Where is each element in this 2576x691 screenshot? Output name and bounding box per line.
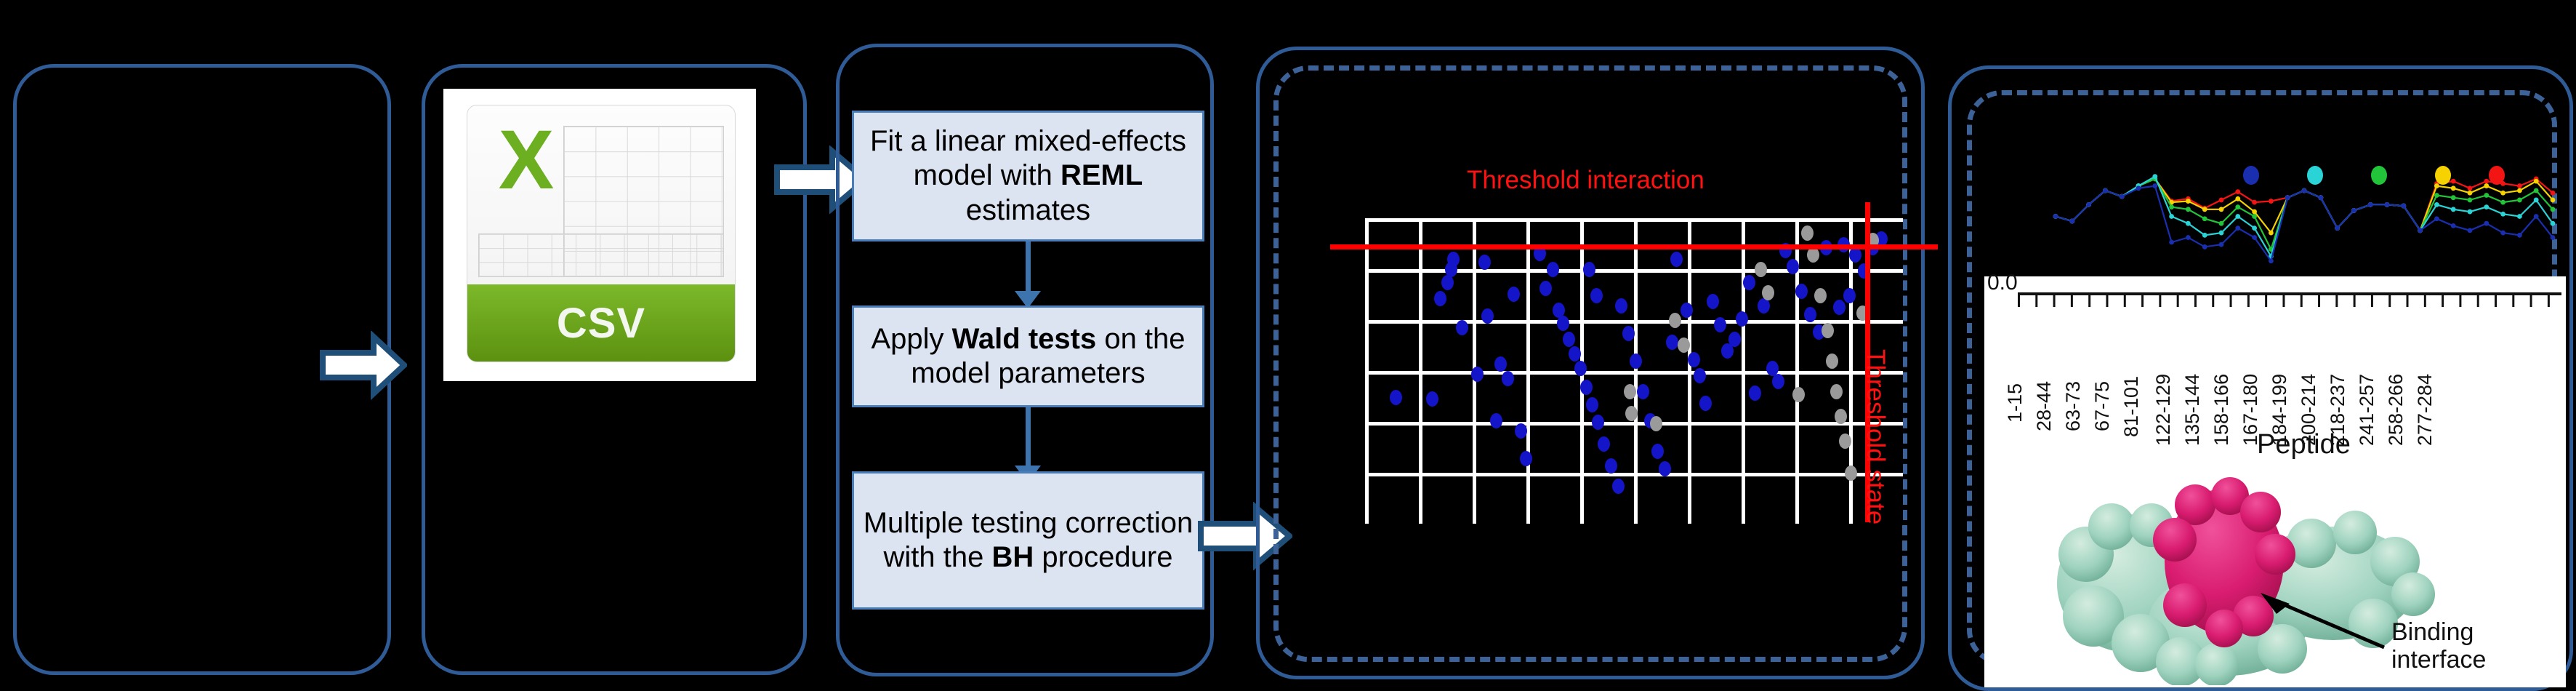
legend-dot-1 bbox=[2243, 166, 2259, 185]
threshold-interaction-line bbox=[1330, 244, 1938, 249]
csv-file-icon: X CSV bbox=[467, 105, 736, 362]
protein-structure-image bbox=[2042, 474, 2450, 685]
scatter-point bbox=[1502, 371, 1514, 386]
excel-x-letter: X bbox=[483, 119, 569, 231]
scatter-point bbox=[1728, 332, 1741, 347]
scatter-point bbox=[1833, 300, 1846, 315]
scatter-point bbox=[1478, 255, 1491, 270]
scatter-point bbox=[1547, 262, 1559, 277]
scatter-point bbox=[1592, 415, 1604, 430]
scatter-point bbox=[1563, 332, 1575, 347]
peptide-label: 158-166 bbox=[2210, 374, 2233, 446]
scatter-point-ns bbox=[1807, 247, 1819, 263]
peptide-label: 258-266 bbox=[2385, 374, 2407, 446]
legend-dot-4 bbox=[2435, 166, 2451, 185]
scatter-point bbox=[1490, 413, 1502, 428]
scatter-point bbox=[1390, 390, 1402, 405]
scatter-point bbox=[1426, 391, 1438, 407]
scatter-point bbox=[1699, 396, 1712, 411]
spreadsheet-grid-lower bbox=[478, 233, 725, 277]
scatter-point bbox=[1481, 308, 1494, 324]
csv-icon-background: X CSV bbox=[443, 89, 756, 381]
step-wald-text: Apply Wald tests on the model parameters bbox=[861, 322, 1195, 391]
scatter-point bbox=[1688, 352, 1700, 367]
binding-interface-line2: interface bbox=[2391, 646, 2486, 674]
scatter-point bbox=[1843, 288, 1856, 303]
y-tick-label: 0.0 bbox=[1987, 271, 2018, 295]
scatter-point-ns bbox=[1625, 406, 1638, 421]
threshold-state-label: Threshold state bbox=[1861, 349, 1890, 524]
scatter-point-ns bbox=[1830, 384, 1843, 399]
x-axis-title: Peptide bbox=[2257, 429, 2351, 460]
scatter-point bbox=[1651, 444, 1664, 459]
scatter-point bbox=[1743, 275, 1755, 290]
scatter-point bbox=[1590, 288, 1603, 303]
scatter-point bbox=[1456, 320, 1468, 335]
threshold-scatter-plot bbox=[1365, 218, 1903, 524]
peptide-label: 277-284 bbox=[2414, 374, 2436, 446]
peptide-label: 135-144 bbox=[2181, 374, 2204, 446]
peptide-line-chart bbox=[2050, 167, 2559, 265]
structure-figure-card: 0.0 1-15 28-44 63-73 67-75 81-101 122-12… bbox=[1984, 276, 2566, 687]
csv-format-label: CSV bbox=[557, 299, 645, 348]
scatter-point bbox=[1494, 356, 1507, 372]
scatter-point bbox=[1694, 368, 1706, 383]
scatter-point-ns bbox=[1814, 288, 1827, 303]
peptide-label: 241-257 bbox=[2356, 374, 2378, 446]
scatter-point bbox=[1539, 281, 1552, 296]
scatter-point-ns bbox=[1822, 323, 1834, 338]
scatter-point bbox=[1615, 298, 1627, 313]
scatter-point bbox=[1749, 386, 1761, 401]
scatter-point bbox=[1569, 346, 1581, 362]
step-wald-box: Apply Wald tests on the model parameters bbox=[852, 305, 1204, 407]
scatter-point bbox=[1787, 259, 1799, 274]
peptide-label: 122-129 bbox=[2152, 374, 2175, 446]
binding-interface-line1: Binding bbox=[2391, 618, 2486, 646]
scatter-point bbox=[1758, 298, 1770, 313]
scatter-point bbox=[1598, 436, 1610, 452]
scatter-point bbox=[1772, 374, 1784, 389]
threshold-interaction-label: Threshold interaction bbox=[1467, 166, 1704, 195]
x-axis-ticks bbox=[2018, 295, 2561, 307]
scatter-point bbox=[1736, 311, 1748, 327]
scatter-point-ns bbox=[1762, 285, 1774, 300]
scatter-point bbox=[1520, 451, 1532, 466]
scatter-point bbox=[1659, 461, 1671, 476]
scatter-point bbox=[1583, 262, 1595, 277]
step-bh-text: Multiple testing correctionwith the BH p… bbox=[864, 506, 1194, 575]
scatter-point-ns bbox=[1826, 354, 1838, 369]
peptide-label: 1-15 bbox=[2004, 383, 2026, 423]
scatter-point-ns bbox=[1755, 262, 1767, 277]
connector-reml-wald bbox=[1026, 241, 1031, 294]
legend-dot-3 bbox=[2371, 166, 2387, 185]
legend-dot-5 bbox=[2489, 166, 2505, 185]
scatter-point bbox=[1586, 397, 1598, 412]
scatter-point-ns bbox=[1801, 225, 1814, 241]
scatter-point bbox=[1707, 294, 1719, 309]
step-reml-text: Fit a linear mixed-effects model with RE… bbox=[861, 124, 1195, 228]
scatter-point bbox=[1471, 367, 1484, 382]
binding-interface-annotation: Binding interface bbox=[2391, 618, 2486, 674]
scatter-point bbox=[1681, 303, 1693, 318]
scatter-point bbox=[1795, 284, 1808, 299]
scatter-point-ns bbox=[1792, 387, 1805, 402]
scatter-point-ns bbox=[1669, 313, 1681, 328]
peptide-label: 28-44 bbox=[2033, 381, 2056, 431]
connector-wald-bh bbox=[1026, 407, 1031, 468]
legend-dot-2 bbox=[2307, 166, 2323, 185]
scatter-point bbox=[1574, 361, 1587, 376]
scatter-point bbox=[1612, 479, 1625, 494]
arrow-into-input bbox=[320, 331, 407, 400]
scatter-point bbox=[1630, 354, 1642, 369]
scatter-point bbox=[1605, 458, 1617, 474]
peptide-label: 81-101 bbox=[2120, 376, 2143, 437]
scatter-point bbox=[1804, 307, 1816, 322]
workflow-diagram: X CSV Fit a linear mixed-effects model w… bbox=[0, 0, 2576, 687]
scatter-point bbox=[1441, 275, 1454, 290]
scatter-point-ns bbox=[1678, 337, 1690, 353]
scatter-point bbox=[1622, 326, 1635, 341]
step-reml-box: Fit a linear mixed-effects model with RE… bbox=[852, 111, 1204, 241]
step-bh-box: Multiple testing correctionwith the BH p… bbox=[852, 471, 1204, 610]
scatter-point bbox=[1670, 252, 1683, 267]
scatter-point-ns bbox=[1650, 416, 1662, 431]
scatter-point bbox=[1637, 384, 1649, 399]
scatter-point-ns bbox=[1845, 466, 1857, 481]
scatter-point bbox=[1714, 317, 1726, 332]
scatter-point bbox=[1666, 335, 1678, 350]
peptide-label: 63-73 bbox=[2062, 381, 2085, 431]
scatter-point-ns bbox=[1624, 384, 1636, 399]
scatter-point bbox=[1557, 316, 1569, 331]
scatter-point-ns bbox=[1839, 434, 1851, 449]
scatter-point bbox=[1447, 252, 1460, 267]
csv-format-band: CSV bbox=[467, 284, 735, 362]
peptide-label: 67-75 bbox=[2091, 381, 2114, 431]
scatter-point bbox=[1434, 291, 1446, 306]
scatter-point-ns bbox=[1835, 409, 1847, 424]
scatter-point bbox=[1515, 423, 1527, 439]
scatter-point bbox=[1849, 247, 1861, 263]
scatter-point bbox=[1508, 287, 1520, 302]
scatter-point bbox=[1580, 380, 1593, 395]
